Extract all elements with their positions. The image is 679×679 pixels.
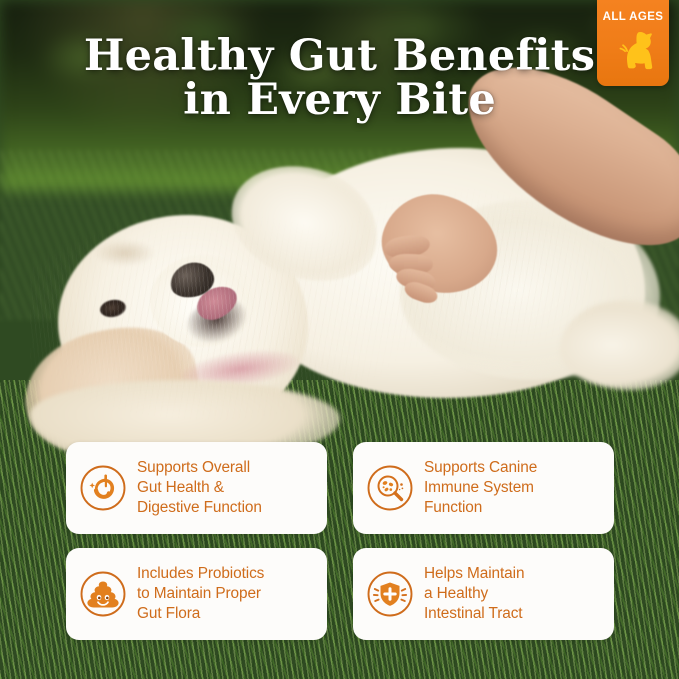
benefit-line: to Maintain Proper	[137, 584, 264, 604]
benefit-card-text: Includes Probiotics to Maintain Proper G…	[137, 564, 264, 624]
benefit-line: Gut Flora	[137, 604, 264, 624]
benefit-line: Gut Health &	[137, 478, 262, 498]
all-ages-badge-label: ALL AGES	[603, 11, 664, 23]
benefit-card: Supports Canine Immune System Function	[353, 442, 614, 534]
benefit-line: Immune System	[424, 478, 537, 498]
benefit-line: Intestinal Tract	[424, 604, 524, 624]
benefit-line: Helps Maintain	[424, 564, 524, 584]
headline: Healthy Gut Benefits in Every Bite	[0, 34, 679, 123]
product-infographic: Healthy Gut Benefits in Every Bite ALL A…	[0, 0, 679, 679]
benefit-card: Helps Maintain a Healthy Intestinal Trac…	[353, 548, 614, 640]
probiotic-poop-icon	[78, 569, 128, 619]
benefit-line: Function	[424, 498, 537, 518]
magnifier-microbe-icon	[365, 463, 415, 513]
benefit-card: Supports Overall Gut Health & Digestive …	[66, 442, 327, 534]
benefit-line: Digestive Function	[137, 498, 262, 518]
benefit-card-text: Helps Maintain a Healthy Intestinal Trac…	[424, 564, 524, 624]
stomach-icon	[78, 463, 128, 513]
benefit-line: Supports Overall	[137, 458, 262, 478]
headline-line-1: Healthy Gut Benefits	[84, 31, 595, 81]
all-ages-badge: ALL AGES	[597, 0, 669, 86]
sitting-dog-icon	[611, 26, 655, 77]
benefit-card-text: Supports Canine Immune System Function	[424, 458, 537, 518]
benefit-card-text: Supports Overall Gut Health & Digestive …	[137, 458, 262, 518]
benefits-card-grid: Supports Overall Gut Health & Digestive …	[66, 442, 614, 640]
benefit-line: Includes Probiotics	[137, 564, 264, 584]
benefit-card: Includes Probiotics to Maintain Proper G…	[66, 548, 327, 640]
shield-plus-icon	[365, 569, 415, 619]
benefit-line: Supports Canine	[424, 458, 537, 478]
headline-line-2: in Every Bite	[0, 78, 679, 122]
benefit-line: a Healthy	[424, 584, 524, 604]
